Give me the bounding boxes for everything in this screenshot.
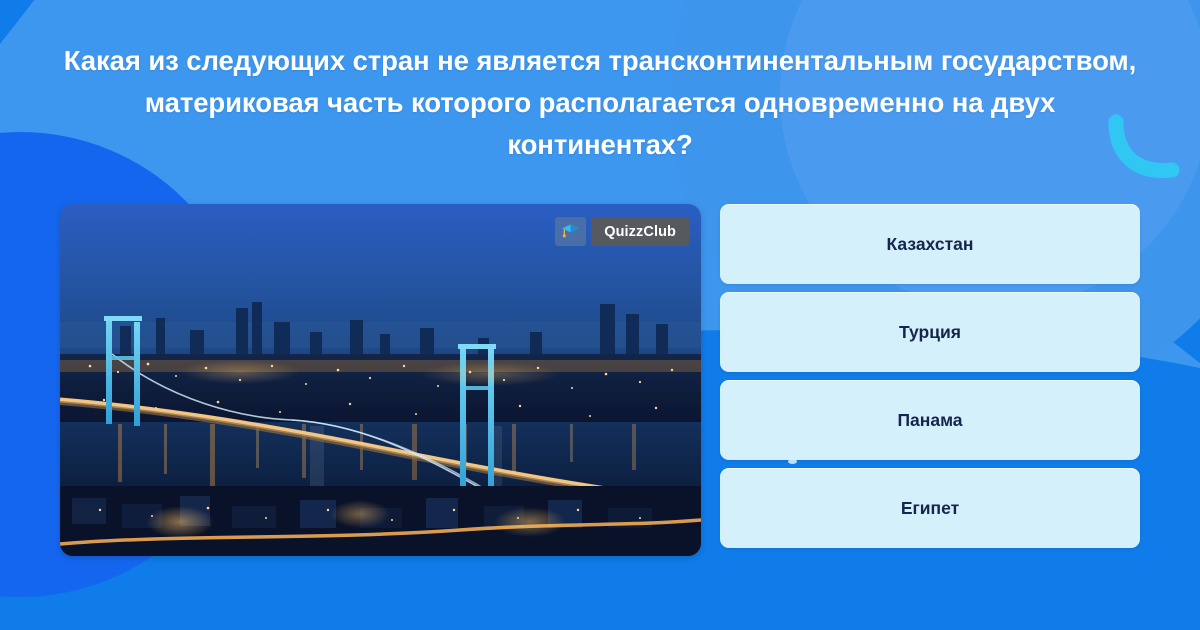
question-text: Какая из следующих стран не является тра… — [60, 40, 1140, 166]
answer-options-list: Казахстан Турция Панама Египет — [720, 204, 1140, 560]
answer-option-1[interactable]: Казахстан — [720, 204, 1140, 284]
image-artifact-dot — [788, 459, 797, 464]
question-image: QuizzClub — [60, 204, 701, 556]
watermark: QuizzClub — [555, 217, 689, 246]
watermark-brand-label: QuizzClub — [591, 217, 689, 246]
answer-option-2[interactable]: Турция — [720, 292, 1140, 372]
answer-option-4[interactable]: Египет — [720, 468, 1140, 548]
istanbul-bosphorus-night-photo — [60, 204, 701, 556]
graduation-cap-icon — [555, 217, 586, 246]
answer-option-3[interactable]: Панама — [720, 380, 1140, 460]
content-row: QuizzClub Казахстан Турция Панама Египет — [60, 204, 1140, 560]
